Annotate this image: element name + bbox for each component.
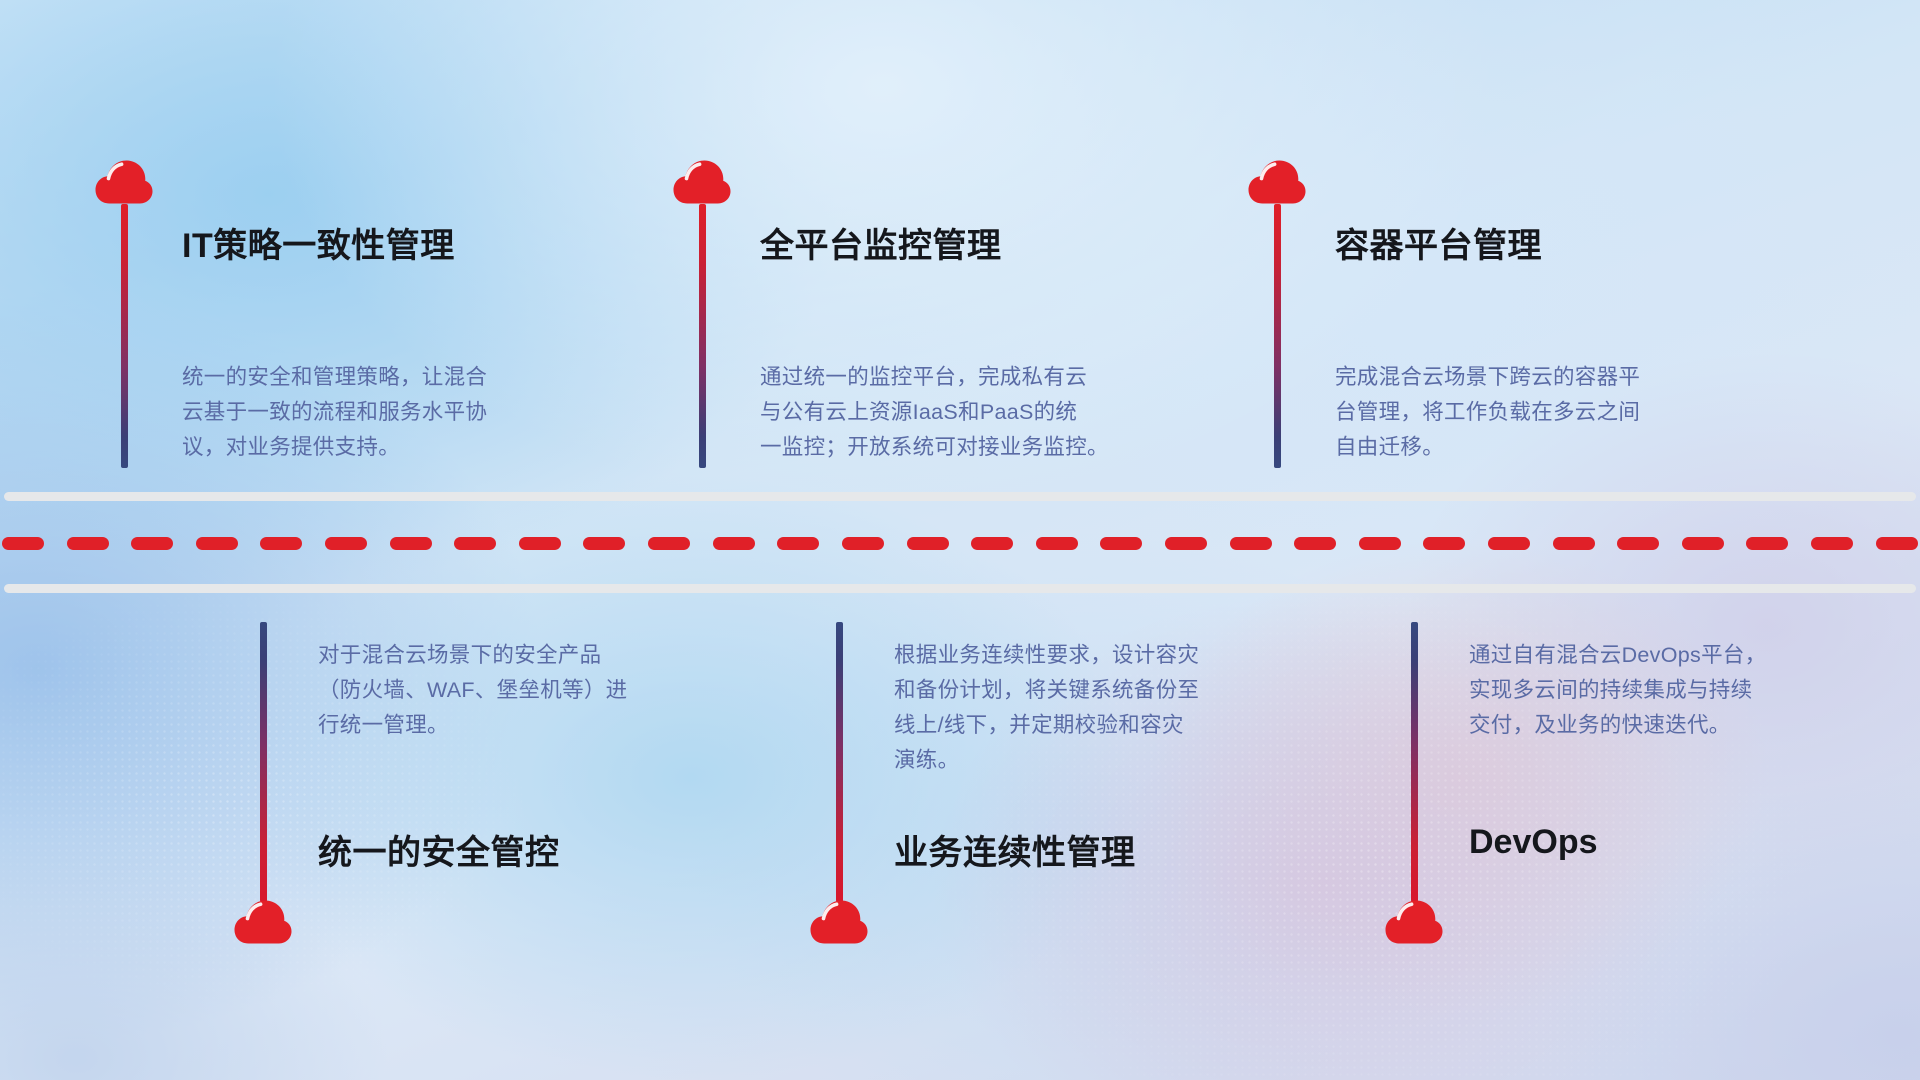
- dash-segment: [713, 537, 755, 550]
- dash-segment: [1036, 537, 1078, 550]
- connector-stem: [1411, 622, 1418, 902]
- connector-stem: [836, 622, 843, 902]
- dash-segment: [67, 537, 109, 550]
- dash-segment: [1876, 537, 1918, 550]
- card-body: 完成混合云场景下跨云的容器平 台管理，将工作负载在多云之间 自由迁移。: [1335, 360, 1795, 465]
- dash-segment: [971, 537, 1013, 550]
- card-heading: 全平台监控管理: [760, 218, 1002, 267]
- dash-segment: [519, 537, 561, 550]
- card-heading: 统一的安全管控: [318, 825, 560, 874]
- dash-segment: [1488, 537, 1530, 550]
- cloud-icon: [234, 900, 292, 944]
- card-body: 根据业务连续性要求，设计容灾 和备份计划，将关键系统备份至 线上/线下，并定期校…: [894, 638, 1324, 778]
- dash-segment: [648, 537, 690, 550]
- divider-rail-top: [4, 492, 1916, 501]
- dash-segment: [1682, 537, 1724, 550]
- dash-segment: [454, 537, 496, 550]
- cloud-icon: [1385, 900, 1443, 944]
- cloud-icon: [810, 900, 868, 944]
- dash-segment: [1746, 537, 1788, 550]
- card-heading: DevOps: [1469, 823, 1598, 862]
- dash-segment: [1359, 537, 1401, 550]
- dash-segment: [583, 537, 625, 550]
- divider-rail-bottom: [4, 584, 1916, 593]
- dash-segment: [1811, 537, 1853, 550]
- connector-stem: [1274, 204, 1281, 468]
- dash-segment: [260, 537, 302, 550]
- dash-segment: [2, 537, 44, 550]
- center-divider: [0, 492, 1920, 596]
- dash-segment: [777, 537, 819, 550]
- dash-segment: [131, 537, 173, 550]
- dash-segment: [842, 537, 884, 550]
- card-body: 通过自有混合云DevOps平台， 实现多云间的持续集成与持续 交付，及业务的快速…: [1469, 638, 1899, 743]
- dash-segment: [196, 537, 238, 550]
- dash-segment: [1100, 537, 1142, 550]
- dash-segment: [1230, 537, 1272, 550]
- divider-dashed-line: [0, 536, 1920, 550]
- dash-segment: [325, 537, 367, 550]
- dash-segment: [1165, 537, 1207, 550]
- dash-segment: [1423, 537, 1465, 550]
- connector-stem: [699, 204, 706, 468]
- dash-segment: [390, 537, 432, 550]
- dash-segment: [1553, 537, 1595, 550]
- infographic-canvas: IT策略一致性管理 统一的安全和管理策略，让混合 云基于一致的流程和服务水平协 …: [0, 0, 1920, 1080]
- card-heading: 业务连续性管理: [894, 825, 1136, 874]
- bottom-column-devops: 通过自有混合云DevOps平台， 实现多云间的持续集成与持续 交付，及业务的快速…: [0, 0, 640, 480]
- dash-segment: [1294, 537, 1336, 550]
- cloud-icon: [1248, 160, 1306, 204]
- connector-stem: [260, 622, 267, 902]
- card-body: 通过统一的监控平台，完成私有云 与公有云上资源IaaS和PaaS的统 一监控；开…: [760, 360, 1230, 465]
- dash-segment: [1617, 537, 1659, 550]
- card-heading: 容器平台管理: [1335, 218, 1542, 267]
- card-body: 对于混合云场景下的安全产品 （防火墙、WAF、堡垒机等）进 行统一管理。: [318, 638, 748, 743]
- dash-segment: [907, 537, 949, 550]
- cloud-icon: [673, 160, 731, 204]
